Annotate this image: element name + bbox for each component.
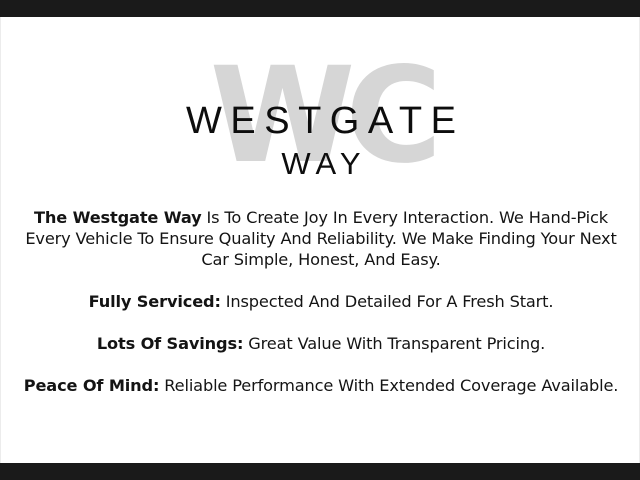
paragraph-fully-serviced: Fully Serviced: Inspected And Detailed F… (11, 291, 631, 312)
peace-of-mind-lead-in: Peace Of Mind: (24, 376, 160, 395)
lots-of-savings-lead-in: Lots Of Savings: (97, 334, 243, 353)
fully-serviced-lead-in: Fully Serviced: (89, 292, 221, 311)
logo-line-way: WAY (1, 147, 640, 180)
paragraph-lots-of-savings: Lots Of Savings: Great Value With Transp… (11, 333, 631, 354)
paragraph-intro: The Westgate Way Is To Create Joy In Eve… (11, 207, 631, 270)
paragraph-peace-of-mind: Peace Of Mind: Reliable Performance With… (11, 375, 631, 396)
logo-wordmark: WESTGATE WAY (1, 101, 640, 180)
value-proposition-copy: The Westgate Way Is To Create Joy In Eve… (11, 207, 631, 396)
ad-content-area: WC WESTGATE WAY The Westgate Way Is To C… (0, 17, 640, 463)
westgate-way-logo: WC WESTGATE WAY (1, 50, 640, 205)
peace-of-mind-body: Reliable Performance With Extended Cover… (159, 376, 618, 395)
lots-of-savings-body: Great Value With Transparent Pricing. (243, 334, 545, 353)
intro-lead-in: The Westgate Way (34, 208, 202, 227)
logo-line-westgate: WESTGATE (1, 101, 640, 141)
fully-serviced-body: Inspected And Detailed For A Fresh Start… (221, 292, 554, 311)
dealership-value-proposition-ad: WC WESTGATE WAY The Westgate Way Is To C… (0, 0, 640, 480)
letterbox-bar-bottom (0, 463, 640, 480)
letterbox-bar-top (0, 0, 640, 17)
